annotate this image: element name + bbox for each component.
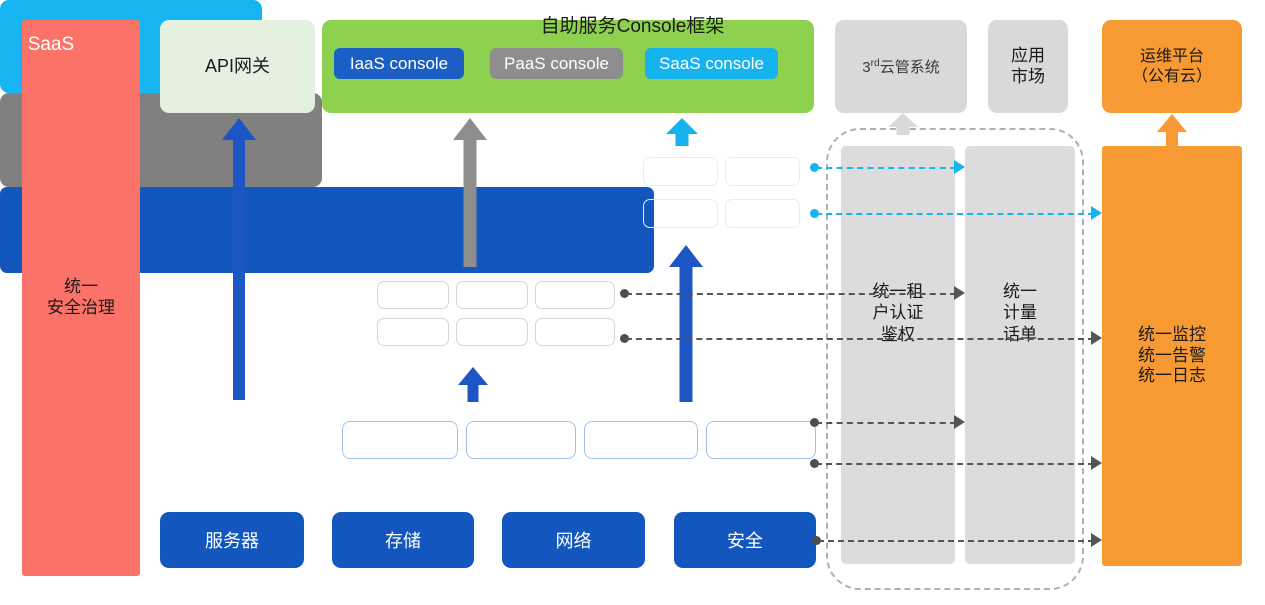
paas-chip-roma[interactable]: ROMA [377, 281, 449, 309]
saas-chip-video-cloud[interactable]: 视频云 [643, 199, 718, 228]
paas-chip-cache[interactable]: 缓存 [456, 318, 528, 346]
iaas-console-chip[interactable]: IaaS console [334, 48, 464, 79]
paas-chip-bigdata[interactable]: 大数据 [535, 318, 615, 346]
connector-saas-to-ops [816, 213, 1094, 215]
paas-console-chip[interactable]: PaaS console [490, 48, 623, 79]
connector-hardware-to-ops [818, 540, 1094, 542]
infra-chip-network[interactable]: Network [584, 421, 698, 459]
hardware-box-server[interactable]: 服务器 [160, 512, 304, 568]
connector-saas-to-auth [816, 167, 956, 169]
arrowhead-paas-to-ops [1091, 331, 1102, 345]
infra-chip-cce[interactable]: CCE [706, 421, 816, 459]
connector-paas-to-auth [626, 293, 956, 295]
hardware-box-storage[interactable]: 存储 [332, 512, 474, 568]
saas-chip-desktop-cloud[interactable]: 桌面云 [725, 199, 800, 228]
unified-tenant-auth-column [841, 146, 955, 564]
third-party-cloud-label: 3rd云管系统 [862, 56, 939, 77]
infra-chip-compute[interactable]: Compute [342, 421, 458, 459]
hardware-box-security[interactable]: 安全 [674, 512, 816, 568]
console-framework-title: 自助服务Console框架 [0, 11, 1265, 38]
arrowhead-infra-to-auth [954, 415, 965, 429]
ops-platform-box: 运维平台 （公有云） [1102, 20, 1242, 113]
connector-paas-to-ops [626, 338, 1094, 340]
saas-chip-iot[interactable]: IoT [725, 157, 800, 186]
arrowhead-saas-to-auth [954, 160, 965, 174]
paas-label: PaaS [312, 303, 374, 325]
saas-chip-blockchain[interactable]: 区块链 [643, 157, 718, 186]
paas-chip-dgc[interactable]: DGC [456, 281, 528, 309]
arrow-ops-column-to-platform [1157, 114, 1187, 147]
paas-chip-modelarts[interactable]: ModelArts [535, 281, 615, 309]
connector-infra-to-ops [816, 463, 1094, 465]
unified-tenant-auth-label: 统一租 户认证 鉴权 [841, 281, 955, 345]
arrow-paas-to-console [453, 118, 487, 267]
architecture-diagram: 统一 安全治理 API网关 自助服务Console框架 IaaS console… [0, 0, 1265, 605]
hardware-box-network[interactable]: 网络 [502, 512, 645, 568]
unified-security-governance-column: 统一 安全治理 [22, 20, 140, 576]
arrow-saas-to-console [666, 118, 698, 146]
saas-label: SaaS [14, 34, 88, 56]
third-party-cloud-management-box: 3rd云管系统 [835, 20, 967, 113]
arrowhead-infra-to-ops [1091, 456, 1102, 470]
arrow-infra-to-paas [458, 367, 488, 402]
infra-chip-storage[interactable]: Storage [466, 421, 576, 459]
arrow-infra-to-api-gateway [222, 118, 256, 400]
saas-console-chip[interactable]: SaaS console [645, 48, 778, 79]
arrowhead-paas-to-auth [954, 286, 965, 300]
connector-infra-to-auth [816, 422, 956, 424]
ops-monitoring-column: 统一监控 统一告警 统一日志 [1102, 146, 1242, 566]
unified-metering-column [965, 146, 1075, 564]
arrowhead-hardware-to-ops [1091, 533, 1102, 547]
application-market-box: 应用 市场 [988, 20, 1068, 113]
arrow-shared-to-third-cloud [888, 113, 918, 135]
arrow-infra-to-saas [669, 245, 703, 402]
unified-infrastructure-label: 统一基础设施服务 [172, 428, 332, 455]
unified-metering-label: 统一 计量 话单 [965, 281, 1075, 345]
paas-chip-database[interactable]: 数据库 [377, 318, 449, 346]
arrowhead-saas-to-ops [1091, 206, 1102, 220]
